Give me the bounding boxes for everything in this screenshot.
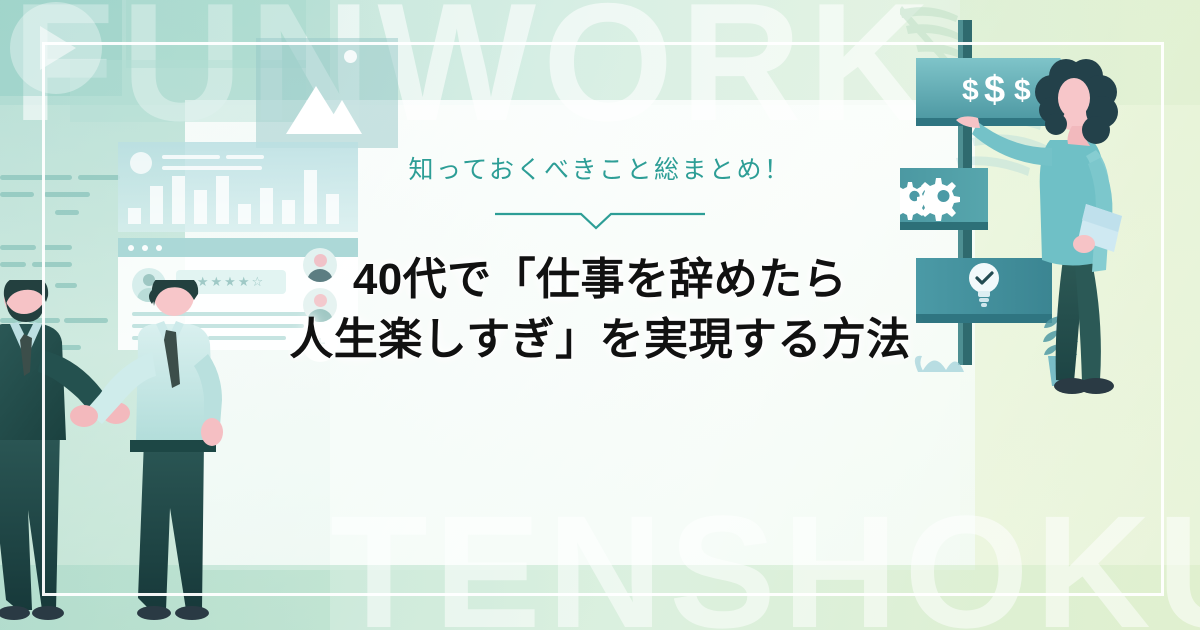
title-line-1: 40代で「仕事を辞めたら (0, 250, 1200, 310)
subtitle: 知っておくべきこと総まとめ！ (0, 150, 1200, 186)
text-block: 知っておくべきこと総まとめ！ 40代で「仕事を辞めたら 人生楽しすぎ」を実現する… (0, 150, 1200, 370)
thumbnail-canvas: FUNWORK TENSHOKU (0, 0, 1200, 630)
page-title: 40代で「仕事を辞めたら 人生楽しすぎ」を実現する方法 (0, 250, 1200, 370)
notched-line-divider (495, 206, 705, 232)
title-line-2: 人生楽しすぎ」を実現する方法 (0, 310, 1200, 370)
